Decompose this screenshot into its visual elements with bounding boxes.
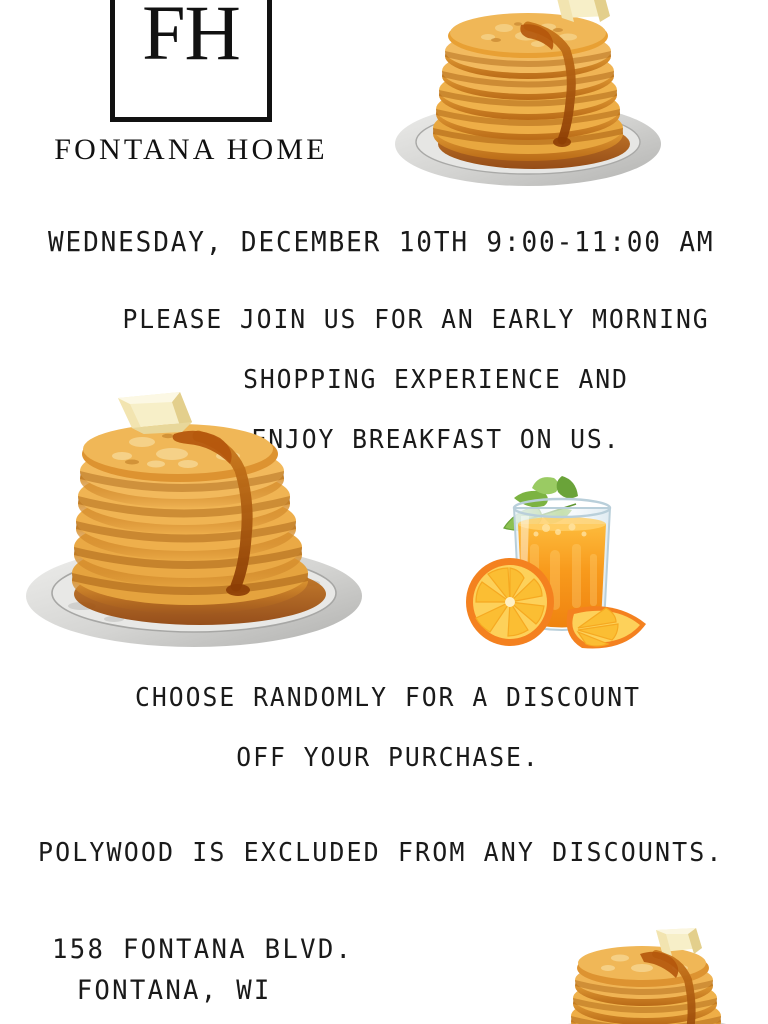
pancake-stack-top-right <box>378 0 678 192</box>
address-line-2: FONTANA, WI <box>52 975 353 1006</box>
exclusion-line: POLYWOOD IS EXCLUDED FROM ANY DISCOUNTS. <box>38 838 724 868</box>
orange-juice-glass <box>458 472 668 652</box>
logo-wordmark: FONTANA HOME <box>36 133 346 167</box>
pancake-stack-bottom-right <box>528 928 766 1024</box>
invitation-line-1: PLEASE JOIN US FOR AN EARLY MORNING <box>120 305 713 335</box>
pancake-stack-left <box>22 378 362 650</box>
discount-line-2: OFF YOUR PURCHASE. <box>84 743 692 773</box>
brand-logo: FH FONTANA HOME <box>36 0 346 167</box>
logo-frame: FH <box>110 0 272 122</box>
address-block: 158 FONTANA BLVD. FONTANA, WI <box>52 934 369 1006</box>
event-date-line: WEDNESDAY, DECEMBER 10TH 9:00-11:00 AM <box>48 225 714 258</box>
discount-text: CHOOSE RANDOMLY FOR A DISCOUNT OFF YOUR … <box>68 683 708 773</box>
flyer-page: FH FONTANA HOME WEDNESDAY, DECEMBER 10TH… <box>0 0 768 1024</box>
address-line-1: 158 FONTANA BLVD. <box>52 934 353 965</box>
logo-monogram: FH <box>142 0 240 69</box>
discount-line-1: CHOOSE RANDOMLY FOR A DISCOUNT <box>84 683 692 713</box>
